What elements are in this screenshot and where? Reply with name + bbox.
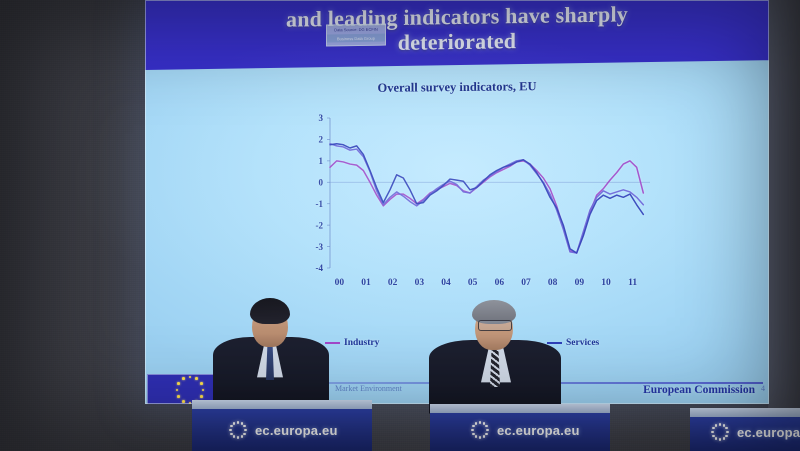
podium-left-url: ec.europa.eu	[255, 423, 338, 438]
svg-text:0: 0	[319, 177, 324, 187]
podium-center-top	[430, 404, 610, 413]
speaker-left-hair	[250, 298, 290, 324]
speaker-right	[425, 300, 565, 412]
svg-text:03: 03	[415, 278, 425, 288]
slide-footer-left: Market Environment	[335, 384, 402, 393]
svg-text:-1: -1	[316, 199, 324, 209]
slide-title: and leading indicators have sharply dete…	[145, 0, 769, 59]
survey-indicators-chart: 3210-1-2-3-4000102030405060708091011	[300, 108, 660, 308]
badge-line-1: Data Source: DG ECFIN	[327, 25, 385, 34]
svg-text:3: 3	[319, 113, 324, 123]
eu-logo-icon	[228, 420, 248, 440]
svg-text:09: 09	[575, 278, 585, 288]
svg-text:00: 00	[335, 278, 345, 288]
svg-text:04: 04	[441, 278, 451, 288]
podium-center: ec.europa.eu	[430, 404, 610, 451]
svg-text:1: 1	[319, 156, 324, 166]
svg-text:08: 08	[548, 278, 558, 288]
eu-logo-icon	[470, 420, 490, 440]
podium-left-top	[192, 400, 372, 409]
svg-text:07: 07	[521, 278, 531, 288]
legend-label: Industry	[344, 338, 379, 348]
podium-center-url: ec.europa.eu	[497, 423, 580, 438]
speaker-left	[205, 295, 335, 410]
svg-text:05: 05	[468, 278, 478, 288]
svg-text:-3: -3	[316, 242, 324, 252]
svg-text:11: 11	[628, 278, 637, 288]
eu-logo-icon	[710, 422, 730, 442]
svg-text:-4: -4	[316, 263, 324, 273]
svg-text:06: 06	[495, 278, 505, 288]
podium-right-brand: ec.europa.eu	[710, 422, 800, 442]
podium-right-url: ec.europa.eu	[737, 425, 800, 440]
legend-label: Services	[566, 338, 599, 348]
podium-right: ec.europa.eu	[690, 408, 800, 451]
badge-line-2: Business Data Group	[327, 34, 385, 43]
svg-text:01: 01	[361, 278, 371, 288]
slide-source-badge: Data Source: DG ECFIN Business Data Grou…	[326, 24, 386, 47]
speaker-right-tie	[490, 347, 500, 387]
svg-text:-2: -2	[316, 220, 324, 230]
slide-number: 4	[761, 384, 765, 393]
svg-text:2: 2	[319, 135, 324, 145]
speaker-right-glasses	[478, 320, 512, 331]
wall-right-panel	[768, 0, 800, 451]
slide-footer-right: European Commission	[643, 384, 755, 396]
podium-center-brand: ec.europa.eu	[470, 420, 580, 440]
press-conference-scene: and leading indicators have sharply dete…	[0, 0, 800, 451]
podium-right-top	[690, 408, 800, 417]
podium-left-brand: ec.europa.eu	[228, 420, 338, 440]
chart-svg: 3210-1-2-3-4000102030405060708091011	[300, 108, 660, 308]
podium-left: ec.europa.eu	[192, 400, 372, 451]
svg-text:10: 10	[601, 278, 611, 288]
svg-text:02: 02	[388, 278, 398, 288]
